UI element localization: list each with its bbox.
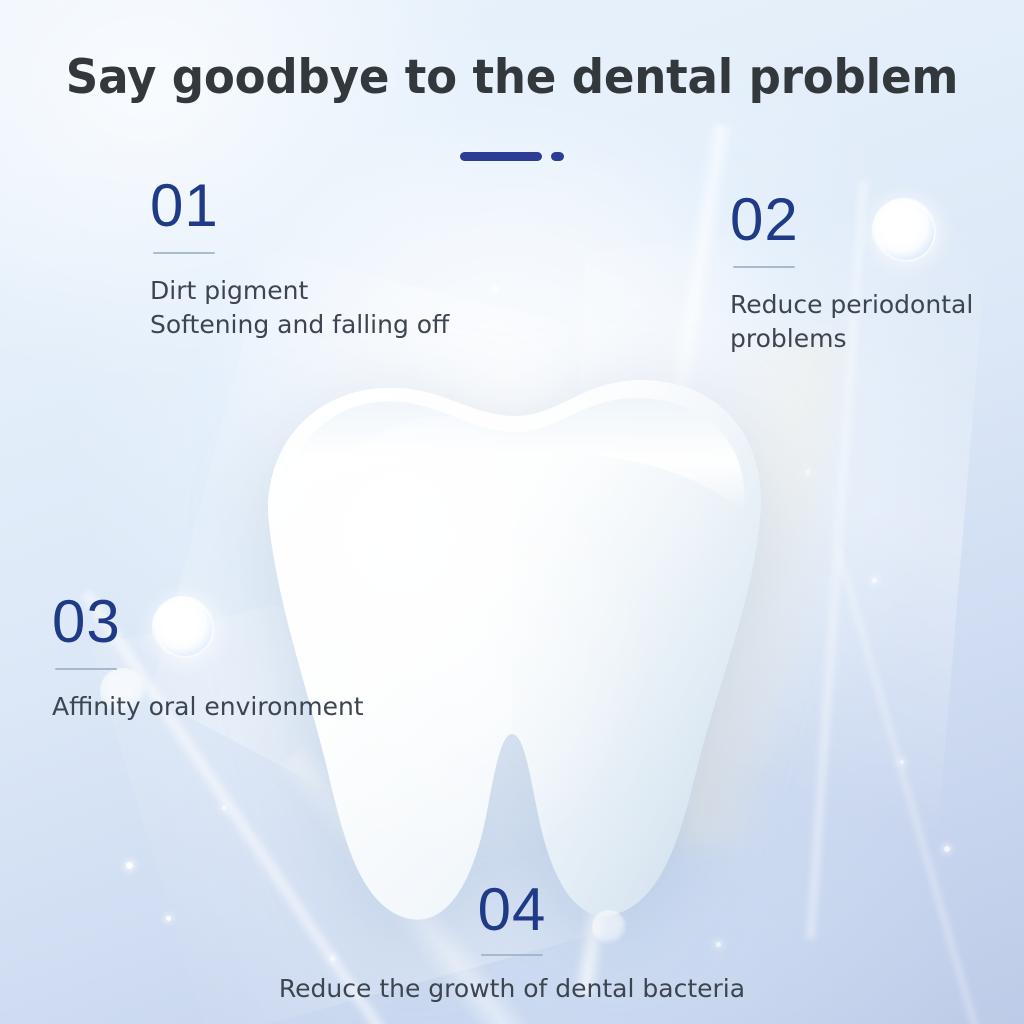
feature-item-03: 03 Affinity oral environment [52, 592, 364, 724]
feature-rule-01 [153, 252, 215, 254]
feature-item-04: 04 Reduce the growth of dental bacteria [0, 880, 1024, 1006]
feature-text-01: Dirt pigment Softening and falling off [150, 274, 449, 341]
feature-rule-04 [481, 954, 543, 956]
sparkle-10 [806, 470, 810, 474]
sparkle-4 [872, 578, 877, 583]
feature-text-02: Reduce periodontal problems [730, 288, 973, 355]
feature-number-01: 01 [150, 176, 449, 236]
page-title: Say goodbye to the dental problem [20, 50, 1003, 105]
feature-number-02: 02 [730, 190, 973, 250]
divider-dot-icon [551, 152, 564, 161]
feature-number-03: 03 [52, 592, 364, 652]
feature-text-03: Affinity oral environment [52, 690, 364, 724]
dental-promo-poster: Say goodbye to the dental problem 01 Dir… [0, 0, 1024, 1024]
sparkle-6 [900, 760, 904, 764]
divider-bar-icon [460, 152, 542, 161]
sparkle-1 [126, 862, 133, 869]
feature-rule-03 [55, 668, 117, 670]
sparkle-7 [492, 286, 498, 292]
sparkle-5 [944, 846, 950, 852]
feature-number-04: 04 [0, 880, 1024, 940]
sparkle-3 [222, 806, 226, 810]
feature-rule-02 [733, 266, 795, 268]
title-divider [460, 152, 564, 161]
feature-text-04: Reduce the growth of dental bacteria [0, 972, 1024, 1006]
feature-item-02: 02 Reduce periodontal problems [730, 190, 973, 355]
feature-item-01: 01 Dirt pigment Softening and falling of… [150, 176, 449, 341]
